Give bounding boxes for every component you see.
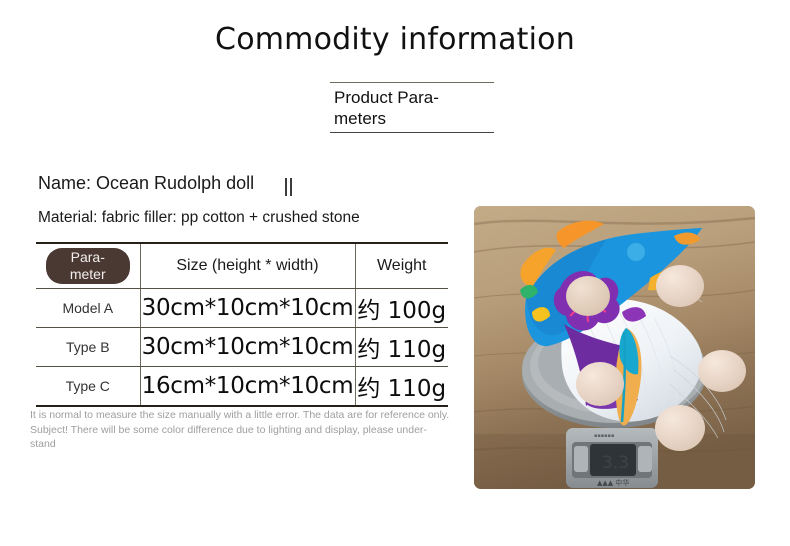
parameter-badge-line-1: Para-: [46, 249, 130, 266]
row-size-2: 16cm*10cm*10cm: [140, 367, 355, 407]
disclaimer-line-2: Subject! There will be some color differ…: [30, 423, 476, 438]
section-heading-text: Product Para- meters: [330, 83, 466, 132]
table-row: Model A 30cm*10cm*10cm 约 100g: [36, 289, 448, 328]
svg-text:▪▪▪▪▪▪: ▪▪▪▪▪▪: [594, 433, 614, 439]
row-size-1: 30cm*10cm*10cm: [140, 328, 355, 367]
row-label-0: Model A: [36, 289, 140, 328]
disclaimer-line-3: stand: [30, 437, 476, 452]
pompom-bottom-left: [576, 362, 624, 406]
product-material-line: Material: fabric filler: pp cotton + cru…: [38, 209, 360, 227]
row-weight-1: 约 110g: [355, 328, 448, 367]
table-row: Type C 16cm*10cm*10cm 约 110g: [36, 367, 448, 407]
disclaimer-text: It is normal to measure the size manuall…: [30, 408, 476, 452]
row-size-0: 30cm*10cm*10cm: [140, 289, 355, 328]
section-heading-line-1: Product Para-: [334, 87, 466, 108]
spec-table: Para- meter Size (height * width) Weight…: [36, 242, 448, 407]
doll-nose: [566, 276, 610, 316]
scan-artifact-mark-2: [290, 178, 292, 196]
header-cell-size: Size (height * width): [140, 243, 355, 289]
header-cell-parameter: Para- meter: [36, 243, 140, 289]
header-cell-weight: Weight: [355, 243, 448, 289]
commodity-information-page: Commodity information Product Para- mete…: [0, 0, 790, 546]
section-rule-bottom: [330, 132, 494, 133]
row-label-1: Type B: [36, 328, 140, 367]
row-label-2: Type C: [36, 367, 140, 407]
product-name-line: Name: Ocean Rudolph doll: [38, 173, 254, 194]
svg-text:3.3: 3.3: [602, 453, 629, 473]
product-photo: 3.3 ▲▲▲ 中华 ▪▪▪▪▪▪: [474, 206, 755, 489]
pompom-bottom-right: [655, 405, 705, 451]
pompom-top-right: [656, 265, 704, 307]
disclaimer-line-1: It is normal to measure the size manuall…: [30, 408, 476, 423]
page-title: Commodity information: [0, 22, 790, 57]
row-weight-0: 约 100g: [355, 289, 448, 328]
svg-text:▲▲▲ 中华: ▲▲▲ 中华: [597, 478, 629, 487]
pompom-mid-right: [698, 350, 746, 392]
scan-artifact-mark-1: [285, 178, 287, 196]
row-weight-2: 约 110g: [355, 367, 448, 407]
table-row: Type B 30cm*10cm*10cm 约 110g: [36, 328, 448, 367]
section-heading-block: Product Para- meters: [330, 82, 494, 133]
product-photo-illustration: 3.3 ▲▲▲ 中华 ▪▪▪▪▪▪: [474, 206, 755, 489]
parameter-badge: Para- meter: [46, 248, 130, 284]
section-heading-line-2: meters: [334, 108, 466, 129]
table-header-row: Para- meter Size (height * width) Weight: [36, 243, 448, 289]
parameter-badge-line-2: meter: [46, 266, 130, 283]
